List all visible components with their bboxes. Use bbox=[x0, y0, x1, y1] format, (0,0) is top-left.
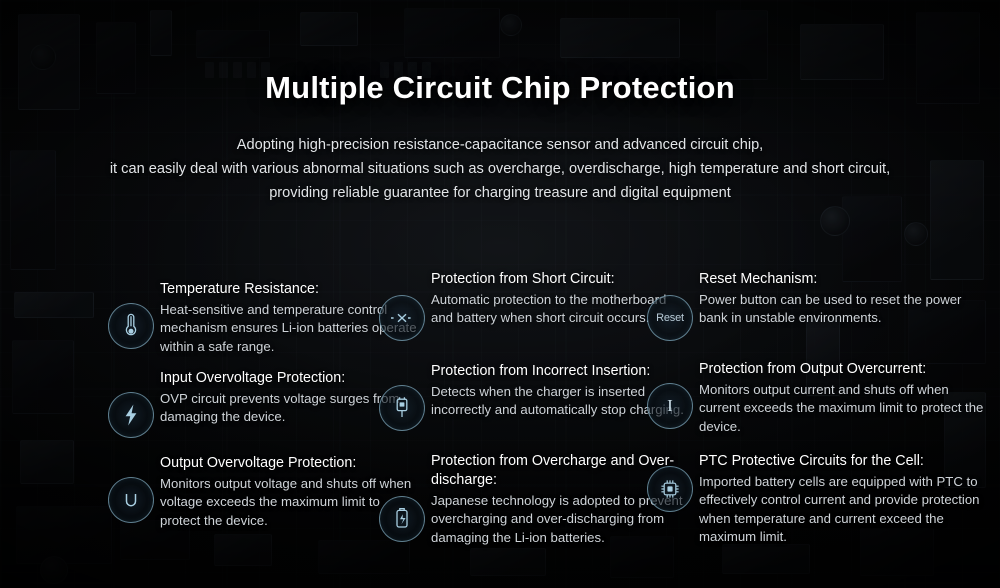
subtitle-line-3: providing reliable guarantee for chargin… bbox=[0, 181, 1000, 205]
page-title: Multiple Circuit Chip Protection bbox=[0, 70, 1000, 106]
thermometer-icon-wrap bbox=[108, 303, 154, 349]
feature-body: Imported battery cells are equipped with… bbox=[699, 473, 999, 547]
feature-heading: PTC Protective Circuits for the Cell: bbox=[699, 452, 999, 471]
subtitle-line-2: it can easily deal with various abnormal… bbox=[0, 157, 1000, 181]
feature-grid: Temperature Resistance: Heat-sensitive a… bbox=[0, 258, 1000, 588]
product-feature-poster: Multiple Circuit Chip Protection Adoptin… bbox=[0, 0, 1000, 588]
reset-icon-wrap: Reset bbox=[647, 295, 693, 341]
feature-text: Reset Mechanism: Power button can be use… bbox=[699, 270, 974, 328]
current-icon-label: I bbox=[667, 396, 673, 416]
feature-text: PTC Protective Circuits for the Cell: Im… bbox=[699, 452, 999, 547]
reset-icon: Reset bbox=[647, 295, 693, 341]
lightning-bolt-icon-wrap bbox=[108, 392, 154, 438]
feature-body: Power button can be used to reset the po… bbox=[699, 291, 974, 328]
page-subtitle: Adopting high-precision resistance-capac… bbox=[0, 133, 1000, 205]
feature-text: Protection from Output Overcurrent: Moni… bbox=[699, 360, 989, 436]
feature-heading: Reset Mechanism: bbox=[699, 270, 974, 289]
current-i-icon: I bbox=[647, 383, 693, 429]
microchip-icon-wrap bbox=[647, 466, 693, 512]
short-circuit-x-icon-wrap bbox=[379, 295, 425, 341]
feature-heading: Output Overvoltage Protection: bbox=[160, 454, 420, 473]
feature-body: Monitors output current and shuts off wh… bbox=[699, 381, 989, 436]
microchip-icon bbox=[647, 466, 693, 512]
feature-heading: Protection from Output Overcurrent: bbox=[699, 360, 989, 379]
subtitle-line-1: Adopting high-precision resistance-capac… bbox=[0, 133, 1000, 157]
short-circuit-x-icon bbox=[379, 295, 425, 341]
thermometer-icon bbox=[108, 303, 154, 349]
feature-heading: Protection from Incorrect Insertion: bbox=[431, 362, 691, 381]
battery-bolt-icon bbox=[379, 496, 425, 542]
poster-content: Multiple Circuit Chip Protection Adoptin… bbox=[0, 0, 1000, 588]
feature-heading: Protection from Short Circuit: bbox=[431, 270, 691, 289]
lightning-bolt-icon bbox=[108, 392, 154, 438]
usb-plug-icon-wrap bbox=[379, 385, 425, 431]
voltage-u-icon-wrap bbox=[108, 477, 154, 523]
battery-bolt-icon-wrap bbox=[379, 496, 425, 542]
current-i-icon-wrap: I bbox=[647, 383, 693, 429]
reset-icon-label: Reset bbox=[656, 312, 684, 324]
voltage-u-icon bbox=[108, 477, 154, 523]
usb-plug-icon bbox=[379, 385, 425, 431]
